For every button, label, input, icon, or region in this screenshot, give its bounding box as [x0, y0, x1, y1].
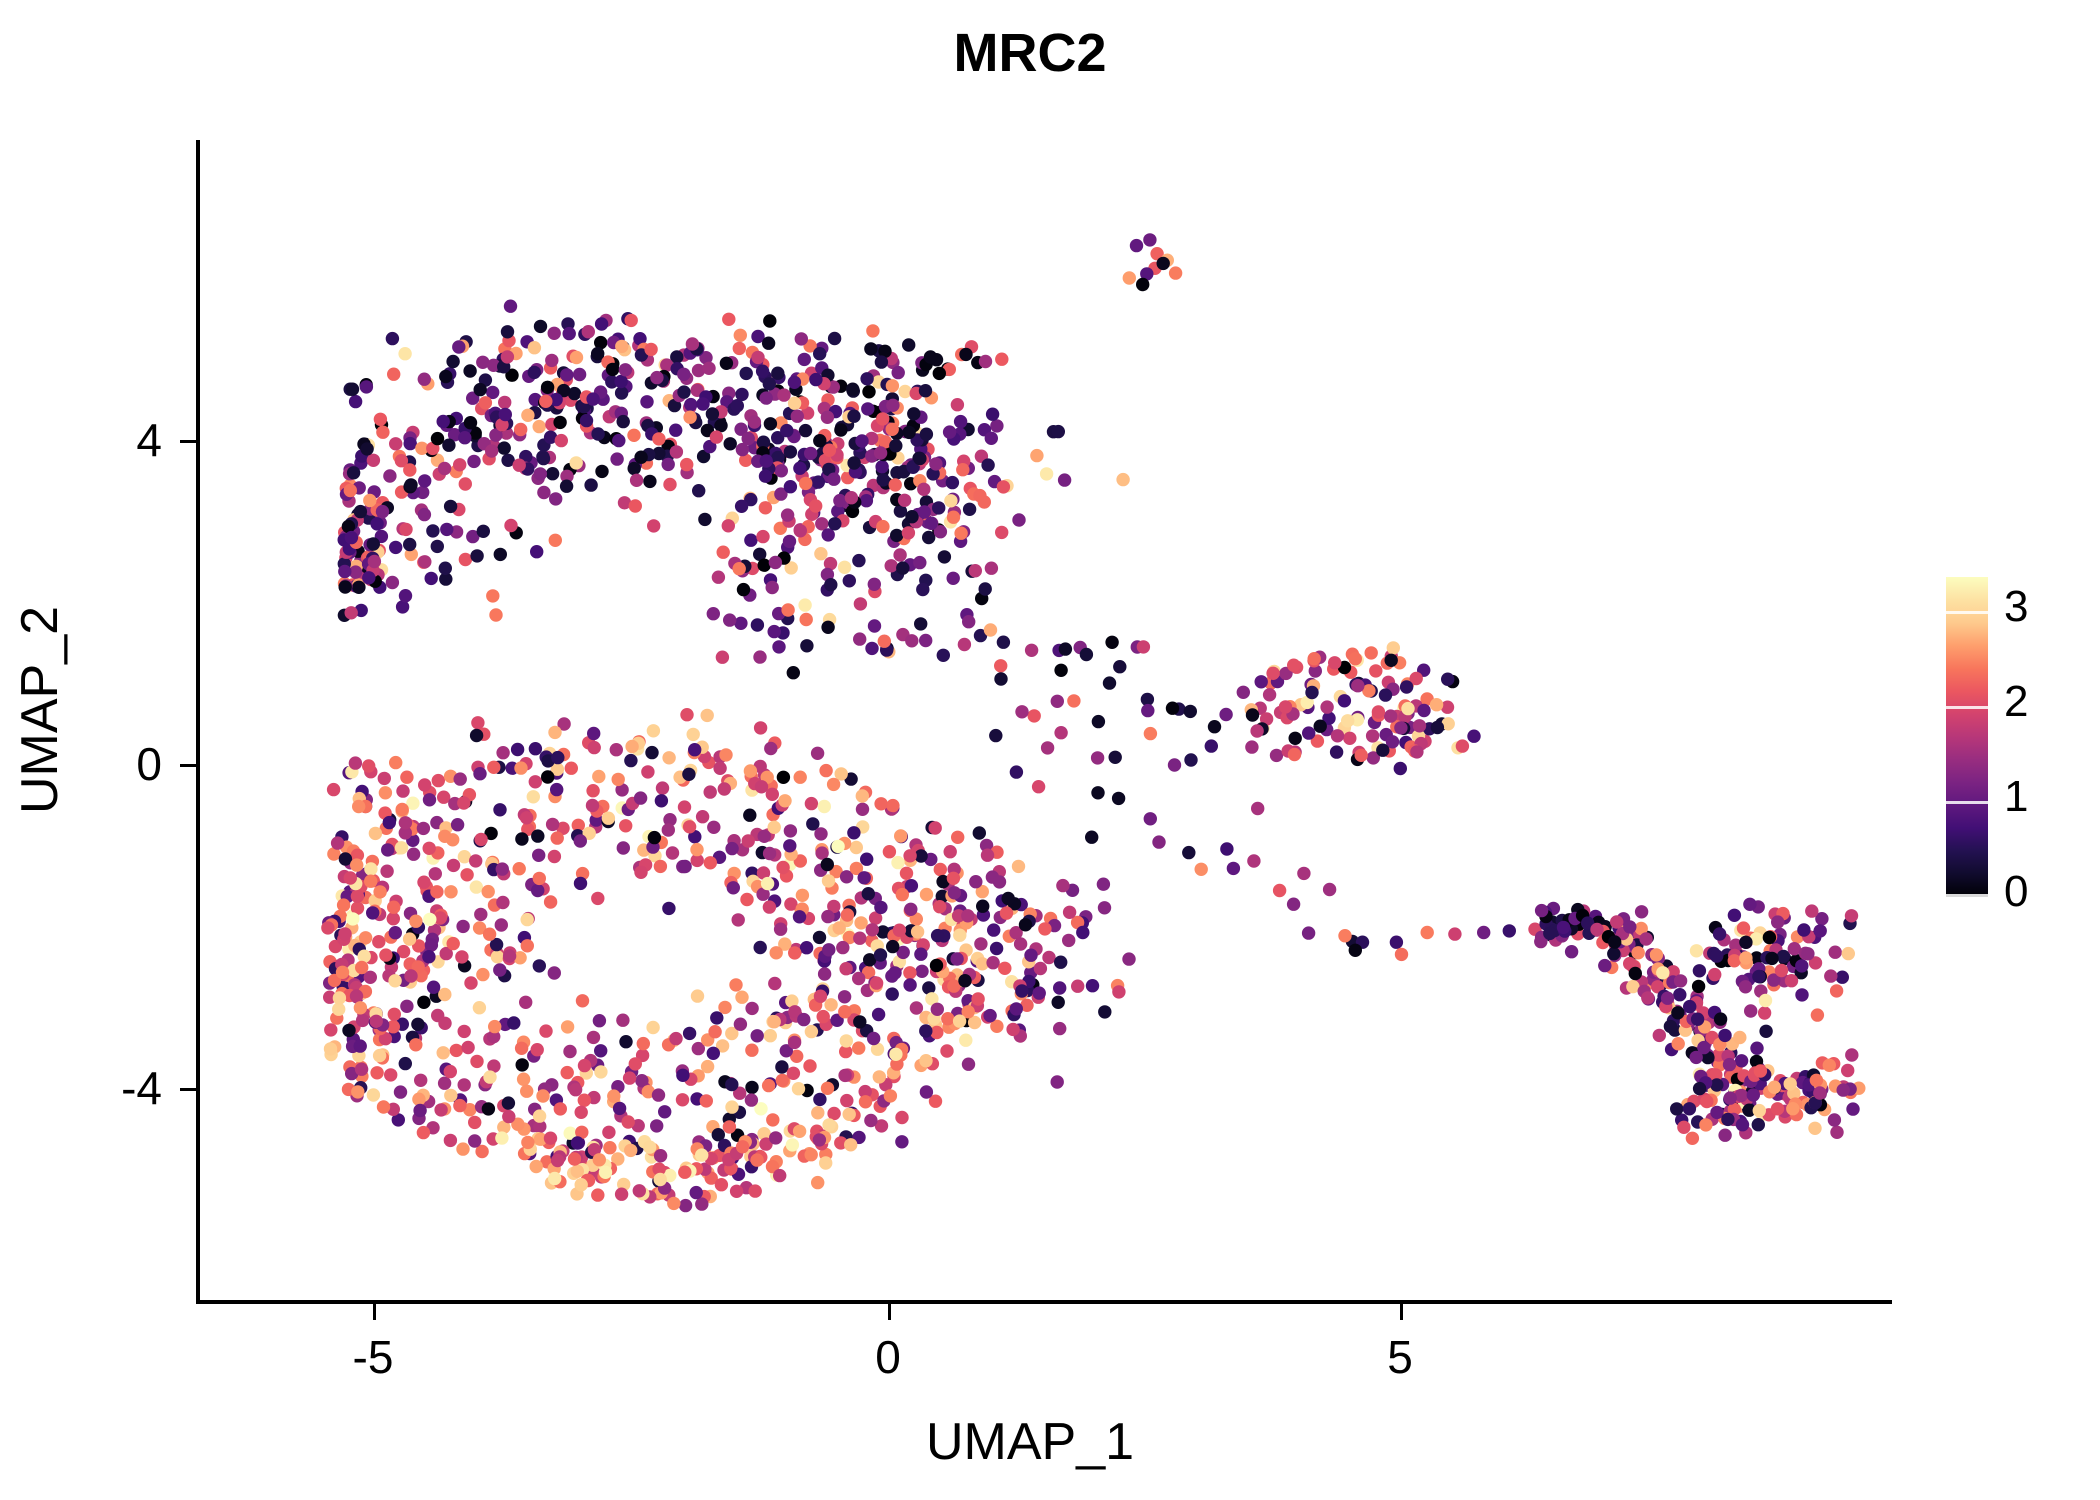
- colorbar-legend: 3 2 1 0: [1946, 560, 2096, 920]
- y-tick-label-minus4: -4: [82, 1061, 162, 1115]
- x-tick-mark: [1400, 1304, 1403, 1320]
- x-axis-title: UMAP_1: [830, 1412, 1230, 1472]
- y-tick-mark: [180, 764, 196, 767]
- colorbar-tick-0: [1946, 894, 1988, 897]
- y-tick-mark: [180, 440, 196, 443]
- x-tick-mark: [373, 1304, 376, 1320]
- scatter-plot-panel: [196, 140, 1890, 1302]
- y-axis-title: UMAP_2: [10, 560, 70, 860]
- colorbar-gradient: [1946, 577, 1988, 897]
- colorbar-label-2: 2: [2004, 677, 2028, 727]
- y-axis-line: [196, 140, 200, 1304]
- x-tick-label-0: 0: [828, 1330, 948, 1384]
- x-tick-label-minus5: -5: [313, 1330, 433, 1384]
- x-tick-mark: [888, 1304, 891, 1320]
- x-tick-label-5: 5: [1340, 1330, 1460, 1384]
- colorbar-label-0: 0: [2004, 867, 2028, 917]
- colorbar-tick-2: [1946, 706, 1988, 709]
- colorbar-tick-1: [1946, 801, 1988, 804]
- chart-canvas: MRC2 4 0 -4 -5 0 5 UMAP_2 UMAP_1 3 2 1 0: [0, 0, 2100, 1500]
- scatter-points-layer: [196, 140, 1890, 1302]
- colorbar-label-1: 1: [2004, 772, 2028, 822]
- colorbar-tick-3: [1946, 611, 1988, 614]
- page-title: MRC2: [0, 22, 2060, 84]
- x-axis-line: [196, 1300, 1892, 1304]
- y-tick-label-0: 0: [100, 737, 162, 791]
- y-tick-mark: [180, 1088, 196, 1091]
- colorbar-label-3: 3: [2004, 582, 2028, 632]
- y-tick-label-4: 4: [100, 413, 162, 467]
